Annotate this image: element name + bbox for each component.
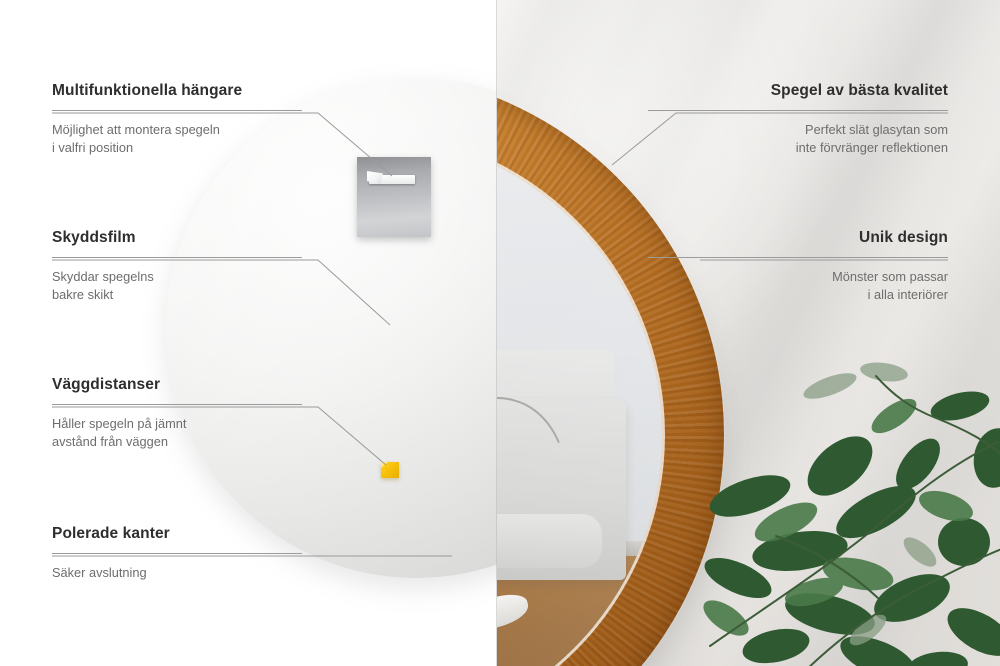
panel-divider [496, 0, 497, 666]
foliage-decoration [680, 346, 1000, 666]
callout-title: Multifunktionella hängare [52, 82, 302, 101]
hanger-plate [357, 157, 431, 237]
callout-rule [52, 553, 302, 554]
callout-rule [648, 257, 948, 258]
callout-title: Spegel av bästa kvalitet [648, 82, 948, 101]
callout-body-line: avstånd från väggen [52, 433, 302, 451]
callout-body-line: Skyddar spegelns [52, 268, 302, 286]
callout-body: Håller spegeln på jämnt avstånd från väg… [52, 415, 302, 451]
callout-rule [52, 404, 302, 405]
callout-unique-design: Unik design Mönster som passar i alla in… [648, 229, 948, 304]
callout-body-line: bakre skikt [52, 286, 302, 304]
callout-body: Skyddar spegelns bakre skikt [52, 268, 302, 304]
callout-wall-spacers: Väggdistanser Håller spegeln på jämnt av… [52, 376, 302, 451]
callout-rule [52, 257, 302, 258]
glass-sheen [497, 133, 662, 666]
callout-protective-film: Skyddsfilm Skyddar spegelns bakre skikt [52, 229, 302, 304]
callout-body: Möjlighet att montera spegeln i valfri p… [52, 121, 302, 157]
callout-body: Säker avslutning [52, 564, 302, 582]
callout-body-line: Håller spegeln på jämnt [52, 415, 302, 433]
callout-body-line: Perfekt slät glasytan som [648, 121, 948, 139]
callout-body-line: i alla interiörer [648, 286, 948, 304]
mirror-glass [497, 133, 662, 666]
callout-body-line: i valfri position [52, 139, 302, 157]
callout-body-line: Möjlighet att montera spegeln [52, 121, 302, 139]
callout-multifunctional-hangers: Multifunktionella hängare Möjlighet att … [52, 82, 302, 157]
leaves-icon [680, 346, 1000, 666]
callout-polished-edges: Polerade kanter Säker avslutning [52, 525, 302, 582]
wall-spacer-chip [381, 462, 399, 478]
infographic-canvas: Multifunktionella hängare Möjlighet att … [0, 0, 1000, 666]
callout-title: Unik design [648, 229, 948, 248]
callout-title: Skyddsfilm [52, 229, 302, 248]
callout-body-line: Mönster som passar [648, 268, 948, 286]
callout-body: Perfekt slät glasytan som inte förvränge… [648, 121, 948, 157]
callout-rule [52, 110, 302, 111]
callout-body-line: inte förvränger reflektionen [648, 139, 948, 157]
callout-body: Mönster som passar i alla interiörer [648, 268, 948, 304]
callout-body-line: Säker avslutning [52, 564, 302, 582]
callout-title: Polerade kanter [52, 525, 302, 544]
callout-rule [648, 110, 948, 111]
callout-best-quality-mirror: Spegel av bästa kvalitet Perfekt slät gl… [648, 82, 948, 157]
callout-title: Väggdistanser [52, 376, 302, 395]
